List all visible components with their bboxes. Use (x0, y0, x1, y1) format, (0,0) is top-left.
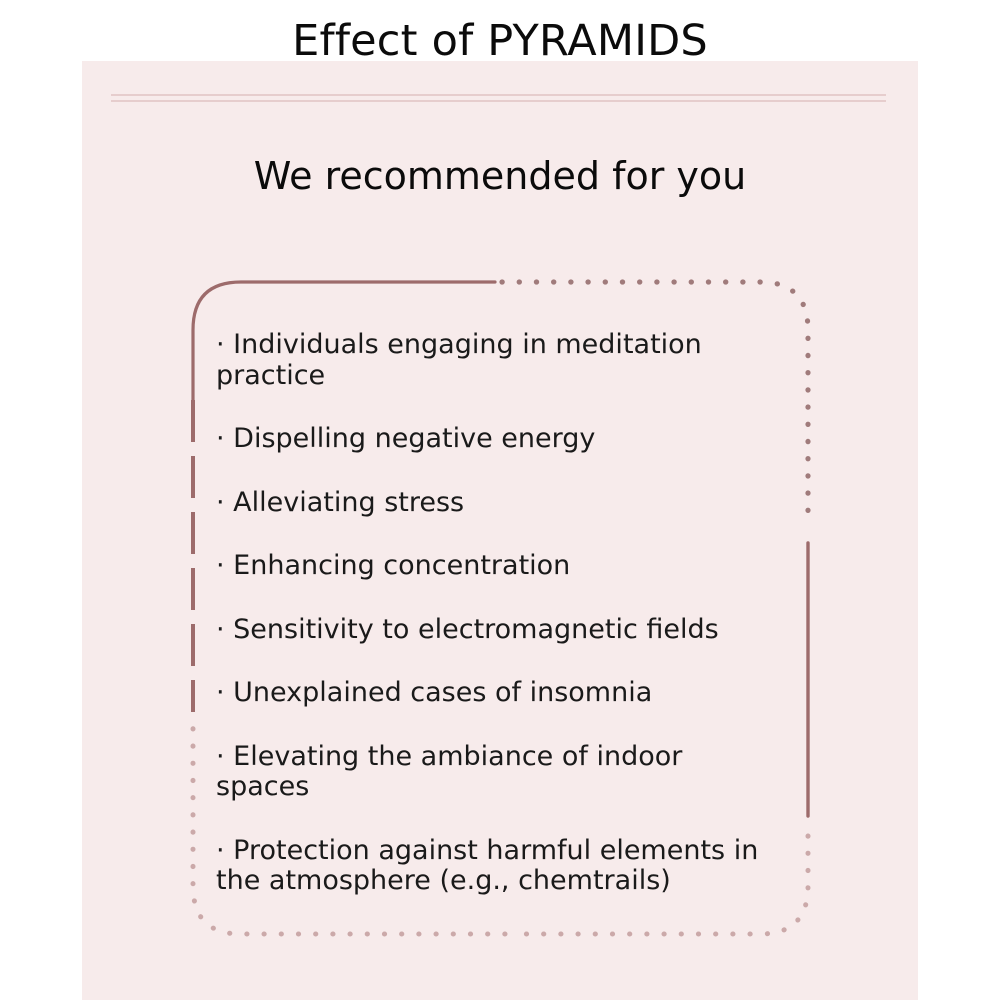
list-item: · Dispelling negative energy (216, 424, 782, 455)
header-divider (111, 94, 886, 103)
recommendation-list: · Individuals engaging in meditation pra… (216, 330, 782, 897)
list-item: · Unexplained cases of insomnia (216, 678, 782, 709)
list-item: · Enhancing concentration (216, 551, 782, 582)
list-item: · Protection against harmful elements in… (216, 836, 782, 897)
list-item: · Individuals engaging in meditation pra… (216, 330, 782, 391)
divider-line-top (111, 94, 886, 96)
list-item: · Elevating the ambiance of indoor space… (216, 742, 782, 803)
divider-line-bottom (111, 100, 886, 102)
list-item: · Alleviating stress (216, 488, 782, 519)
page-title: Effect of PYRAMIDS (0, 20, 1000, 63)
section-subtitle: We recommended for you (0, 155, 1000, 199)
list-item: · Sensitivity to electromagnetic fields (216, 615, 782, 646)
